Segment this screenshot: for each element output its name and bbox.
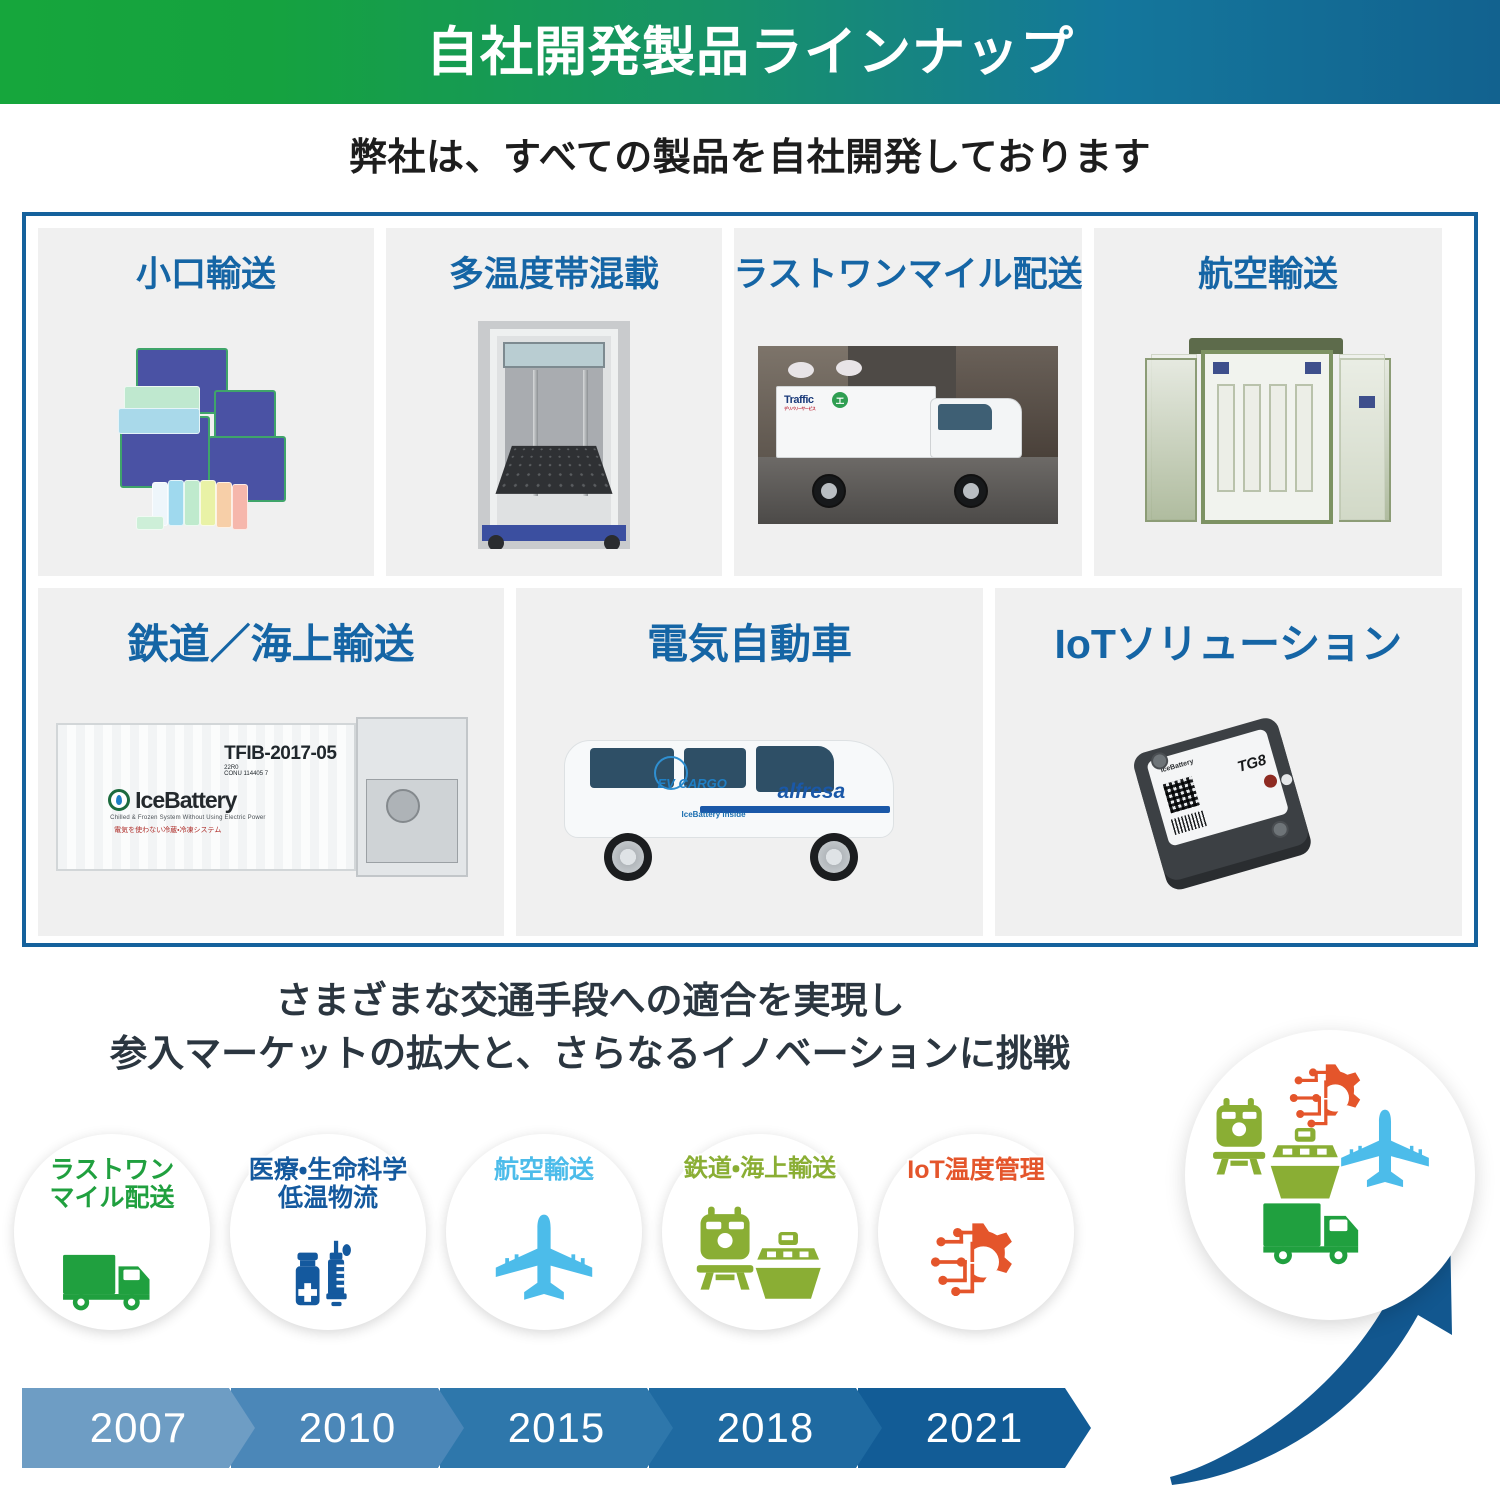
product-photo-area — [38, 295, 374, 577]
truck-icon — [60, 1250, 164, 1312]
milestone-label: ラストワン マイル配送 — [49, 1156, 174, 1212]
year-chevron-2021[interactable]: 2021 — [858, 1388, 1091, 1468]
icebattery-mark-icon — [108, 789, 130, 811]
tagline-line-1: さまざまな交通手段への適合を実現し — [0, 975, 1180, 1028]
product-photo-area: IceBattery TG8 — [995, 667, 1462, 936]
year-timeline: 2007 2010 2015 2018 2021 — [22, 1388, 1067, 1468]
product-card-title: 多温度帯混載 — [449, 256, 659, 295]
container-brand-logo: IceBattery — [108, 787, 236, 814]
bottom-tagline: さまざまな交通手段への適合を実現し 参入マーケットの拡大と、さらなるイノベーショ… — [0, 975, 1180, 1080]
product-card-iot-solution[interactable]: IoTソリューション IceBattery TG8 — [995, 588, 1462, 936]
photo-iot-temperature-logger: IceBattery TG8 — [1126, 707, 1331, 897]
all-modes-circle — [1185, 1030, 1475, 1320]
year-chevron-2018[interactable]: 2018 — [649, 1388, 882, 1468]
qr-code-icon — [1163, 776, 1200, 813]
product-photo-area — [1094, 295, 1442, 577]
milestone-label: 医療・生命科学 低温物流 — [249, 1156, 408, 1212]
icebattery-inside-badge: IceBattery inside — [682, 810, 746, 819]
product-row-1: 小口輸送 — [38, 228, 1462, 576]
train-icon — [1209, 1098, 1271, 1178]
photo-insulated-cooler-boxes — [96, 330, 316, 540]
iot-gear-icon — [930, 1216, 1022, 1308]
product-photo-area — [386, 295, 722, 577]
container-tagline-ja: 電気を使わない冷蔵・冷凍システム — [114, 825, 221, 835]
photo-electric-cargo-van: EV CARGO alfresa IceBattery inside — [550, 714, 950, 889]
ship-icon — [751, 1232, 827, 1302]
header-banner: 自社開発製品ラインナップ — [0, 0, 1500, 104]
barcode-icon — [1171, 810, 1208, 835]
milestone-circle-2010[interactable]: 医療・生命科学 低温物流 — [230, 1134, 426, 1330]
truck-brand-sub: デリバリーサービス — [784, 406, 815, 412]
truck-brand-label: Traffic デリバリーサービス — [784, 394, 815, 412]
iot-model-label: TG8 — [1235, 751, 1268, 775]
milestone-circle-2007[interactable]: ラストワン マイル配送 — [14, 1134, 210, 1330]
year-label: 2010 — [299, 1404, 396, 1452]
product-card-title: ラストワンマイル配送 — [734, 256, 1082, 295]
timeline-circles: ラストワン マイル配送 医療・生命科学 低温物流 — [14, 1134, 1074, 1330]
ev-cargo-label: EV CARGO — [658, 776, 727, 791]
product-photo-area: TFIB-2017-05 22R0 CONU 114405 7 IceBatte… — [38, 667, 504, 936]
milestone-label: 鉄道・海上輸送 — [684, 1156, 836, 1183]
product-card-electric-vehicle[interactable]: 電気自動車 EV CARGO alfresa IceBattery inside — [516, 588, 982, 936]
milestone-circle-2015[interactable]: 航空輸送 — [446, 1134, 642, 1330]
product-card-last-mile-delivery[interactable]: ラストワンマイル配送 Traffic デリバリーサービス エ — [734, 228, 1082, 576]
product-photo-area: Traffic デリバリーサービス エ — [734, 295, 1082, 577]
led-indicator-secondary-icon — [1280, 772, 1294, 786]
year-chevron-2010[interactable]: 2010 — [231, 1388, 464, 1468]
icebattery-wordmark: IceBattery — [135, 787, 236, 814]
photo-multi-temperature-roll-cart — [478, 321, 630, 549]
product-row-2: 鉄道／海上輸送 TFIB-2017-05 22R0 CONU 114405 7 … — [38, 588, 1462, 936]
product-card-title: 小口輸送 — [136, 256, 276, 295]
milestone-circle-2018[interactable]: 鉄道・海上輸送 — [662, 1134, 858, 1330]
product-lineup-frame: 小口輸送 — [22, 212, 1478, 947]
train-icon — [693, 1204, 759, 1296]
subtitle: 弊社は、すべての製品を自社開発しております — [349, 126, 1151, 181]
year-label: 2015 — [508, 1404, 605, 1452]
screw-icon — [1269, 818, 1290, 839]
year-chevron-2007[interactable]: 2007 — [22, 1388, 255, 1468]
milestone-label: IoT温度管理 — [907, 1156, 1045, 1184]
milestone-label: 航空輸送 — [494, 1156, 594, 1184]
year-label: 2018 — [717, 1404, 814, 1452]
truck-icon — [1263, 1198, 1371, 1266]
milestone-circle-2021[interactable]: IoT温度管理 — [878, 1134, 1074, 1330]
train-ship-icon — [685, 1204, 835, 1308]
truck-brand-text: Traffic — [784, 394, 814, 406]
airplane-icon — [492, 1212, 596, 1308]
container-tagline-en: Chilled & Frozen System Without Using El… — [110, 815, 265, 821]
product-card-multi-temperature[interactable]: 多温度帯混載 — [386, 228, 722, 576]
year-label: 2021 — [926, 1404, 1023, 1452]
product-card-title: 電気自動車 — [647, 622, 852, 667]
product-card-title: IoTソリューション — [1055, 622, 1403, 667]
product-photo-area: EV CARGO alfresa IceBattery inside — [516, 667, 982, 936]
photo-air-cargo-container — [1143, 332, 1393, 538]
product-card-rail-sea-transport[interactable]: 鉄道／海上輸送 TFIB-2017-05 22R0 CONU 114405 7 … — [38, 588, 504, 936]
alfresa-wordmark: alfresa — [778, 780, 846, 804]
ship-icon — [1267, 1128, 1345, 1202]
photo-reefer-container: TFIB-2017-05 22R0 CONU 114405 7 IceBatte… — [56, 707, 486, 897]
tagline-line-2: 参入マーケットの拡大と、さらなるイノベーションに挑戦 — [0, 1028, 1180, 1081]
year-chevron-2015[interactable]: 2015 — [440, 1388, 673, 1468]
airplane-icon — [1337, 1108, 1433, 1194]
product-card-air-transport[interactable]: 航空輸送 — [1094, 228, 1442, 576]
vial-syringe-icon — [288, 1234, 368, 1312]
product-card-title: 航空輸送 — [1198, 256, 1338, 295]
product-card-small-lot-transport[interactable]: 小口輸送 — [38, 228, 374, 576]
page-title: 自社開発製品ラインナップ — [426, 26, 1074, 79]
year-label: 2007 — [90, 1404, 187, 1452]
product-card-title: 鉄道／海上輸送 — [128, 622, 415, 667]
photo-refrigerated-kei-truck: Traffic デリバリーサービス エ — [758, 346, 1058, 524]
container-code: TFIB-2017-05 22R0 CONU 114405 7 — [224, 743, 336, 777]
subtitle-wrap: 弊社は、すべての製品を自社開発しております — [0, 104, 1500, 202]
